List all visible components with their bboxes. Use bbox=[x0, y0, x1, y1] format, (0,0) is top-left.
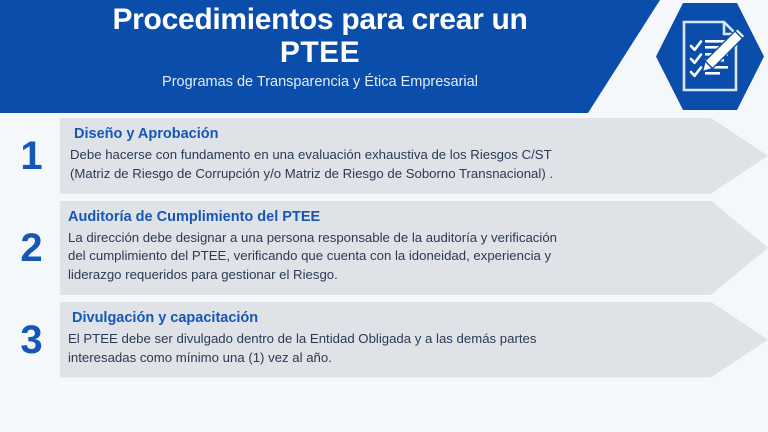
header-band bbox=[0, 0, 660, 113]
step-heading: Divulgación y capacitación bbox=[60, 309, 768, 327]
step-arrow-panel: Diseño y Aprobación Debe hacerse con fun… bbox=[60, 118, 768, 194]
header-badge bbox=[656, 3, 764, 110]
step-number: 1 bbox=[8, 136, 54, 176]
step-number: 3 bbox=[8, 320, 54, 360]
step-item: 1 Diseño y Aprobación Debe hacerse con f… bbox=[0, 118, 768, 194]
step-heading: Auditoría de Cumplimiento del PTEE bbox=[60, 208, 768, 226]
step-heading: Diseño y Aprobación bbox=[60, 125, 768, 143]
step-body-text: El PTEE debe ser divulgado dentro de la … bbox=[60, 330, 768, 367]
step-number: 2 bbox=[8, 228, 54, 268]
steps-list: 1 Diseño y Aprobación Debe hacerse con f… bbox=[0, 118, 768, 385]
step-arrow-panel: Auditoría de Cumplimiento del PTEE La di… bbox=[60, 201, 768, 295]
slide-root: Procedimientos para crear un PTEE Progra… bbox=[0, 0, 768, 432]
step-item: 2 Auditoría de Cumplimiento del PTEE La … bbox=[0, 201, 768, 295]
step-body-text: Debe hacerse con fundamento en una evalu… bbox=[60, 146, 768, 183]
document-checklist-pencil-icon bbox=[678, 19, 748, 93]
step-arrow-panel: Divulgación y capacitación El PTEE debe … bbox=[60, 302, 768, 378]
step-item: 3 Divulgación y capacitación El PTEE deb… bbox=[0, 302, 768, 378]
step-body-text: La dirección debe designar a una persona… bbox=[60, 229, 768, 285]
